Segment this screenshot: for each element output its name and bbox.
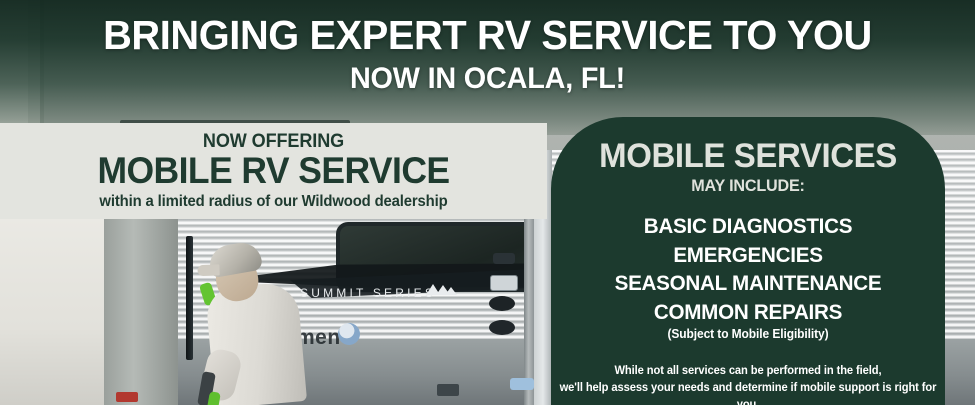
mobile-service-panel: NOW OFFERING MOBILE RV SERVICE within a … [0,123,547,219]
services-panel-subtitle: MAY INCLUDE: [561,176,935,196]
rv-sticker [493,253,515,264]
eligibility-note: (Subject to Mobile Eligibility) [559,327,937,341]
rv-sticker [490,275,518,291]
rv-sticker [437,384,459,396]
mobile-service-title: MOBILE RV SERVICE [11,152,536,191]
list-item: EMERGENCIES [559,241,937,270]
rv-brand-emblem-icon [338,323,360,345]
banner-headline: BRINGING EXPERT RV SERVICE TO YOU [15,14,961,57]
headline-block: BRINGING EXPERT RV SERVICE TO YOU NOW IN… [0,14,975,94]
services-panel-title: MOBILE SERVICES [557,139,939,173]
list-item: BASIC DIAGNOSTICS [559,212,937,241]
disclaimer-line-1: While not all services can be performed … [615,365,882,377]
services-disclaimer: While not all services can be performed … [557,363,939,405]
promotional-banner: SUMMIT SERIES men BRINGING EXPERT RV SER… [0,0,975,405]
rv-sticker [489,320,515,335]
mobile-service-subtitle: within a limited radius of our Wildwood … [11,193,536,211]
banner-subheadline: NOW IN OCALA, FL! [20,63,956,95]
rv-sticker [510,378,534,390]
mountain-logo-icon [424,282,458,296]
services-list: BASIC DIAGNOSTICS EMERGENCIES SEASONAL M… [551,212,945,326]
mobile-services-panel: MOBILE SERVICES MAY INCLUDE: BASIC DIAGN… [551,117,945,405]
rv-brand-text: men [296,326,341,350]
disclaimer-line-2: we'll help assess your needs and determi… [560,382,937,405]
rv-sticker [116,392,138,402]
rv-decal-text: SUMMIT SERIES [300,286,436,300]
rv-awning-arm [186,236,193,360]
rv-sticker [489,296,515,311]
list-item: COMMON REPAIRS [559,298,937,327]
list-item: SEASONAL MAINTENANCE [559,269,937,298]
